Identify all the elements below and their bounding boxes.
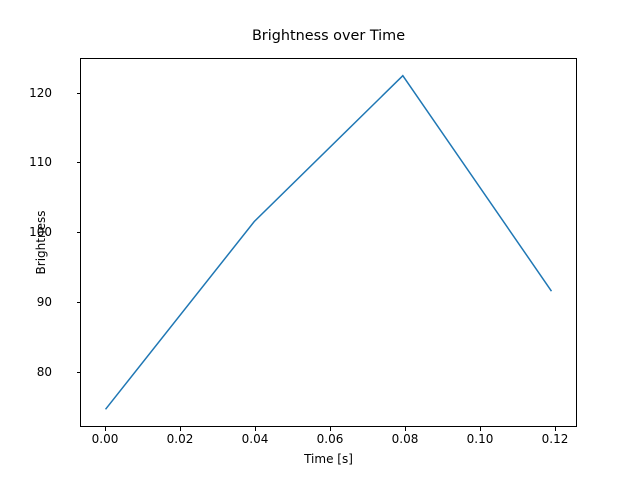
xtick-mark-6 — [555, 427, 556, 431]
xtick-mark-1 — [180, 427, 181, 431]
x-axis-label: Time [s] — [80, 452, 577, 466]
xtick-mark-3 — [330, 427, 331, 431]
xtick-mark-2 — [255, 427, 256, 431]
xtick-mark-0 — [105, 427, 106, 431]
chart-title: Brightness over Time — [80, 28, 577, 45]
xtick-label-5: 0.10 — [467, 432, 494, 446]
y-axis-label: Brightness — [34, 58, 56, 427]
xtick-label-6: 0.12 — [542, 432, 569, 446]
ytick-mark-4 — [77, 93, 81, 94]
chart-figure: Brightness over Time 0.00 0.02 0.04 0.06… — [0, 0, 640, 480]
ytick-mark-0 — [77, 372, 81, 373]
ytick-mark-3 — [77, 162, 81, 163]
series-polyline — [106, 76, 552, 410]
xtick-mark-5 — [480, 427, 481, 431]
plot-area — [80, 58, 577, 427]
line-series-brightness — [81, 59, 576, 426]
xtick-label-3: 0.06 — [317, 432, 344, 446]
xtick-label-0: 0.00 — [92, 432, 119, 446]
xtick-mark-4 — [405, 427, 406, 431]
xtick-label-1: 0.02 — [167, 432, 194, 446]
xtick-label-4: 0.08 — [392, 432, 419, 446]
xtick-label-2: 0.04 — [242, 432, 269, 446]
ytick-mark-1 — [77, 302, 81, 303]
ytick-mark-2 — [77, 232, 81, 233]
